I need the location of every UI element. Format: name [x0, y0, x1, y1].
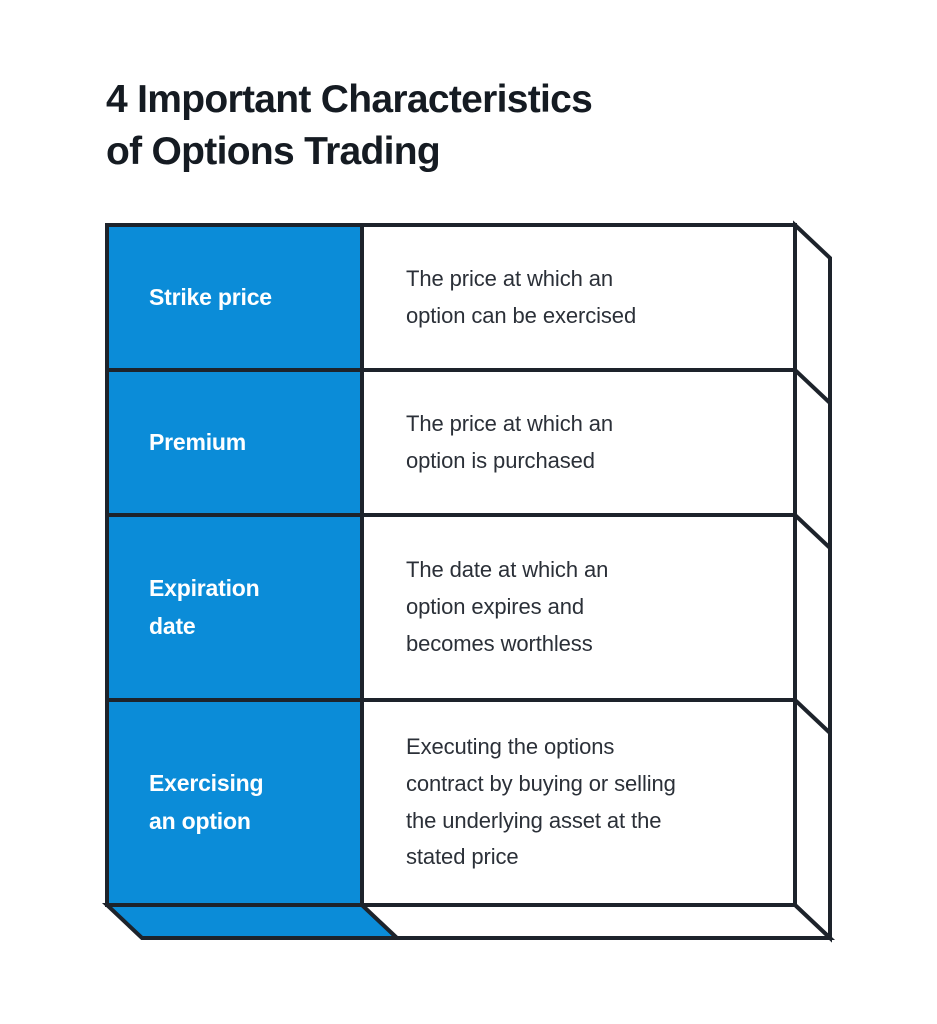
infographic-page: 4 Important Characteristics of Options T… [0, 0, 937, 1024]
table-bottom-face [107, 905, 830, 938]
bottom-depth-face-white [362, 905, 830, 938]
table-row: Expiration date The date at which an opt… [107, 515, 795, 700]
right-depth-divider-2 [795, 515, 830, 548]
page-title: 4 Important Characteristics of Options T… [106, 74, 806, 178]
row-description-expiration-date: The date at which an option expires and … [362, 515, 795, 700]
table-row: Premium The price at which an option is … [107, 370, 795, 515]
row-label-premium: Premium [107, 370, 362, 515]
right-depth-divider-3 [795, 700, 830, 733]
row-description-strike-price: The price at which an option can be exer… [362, 225, 795, 370]
row-label-expiration-date: Expiration date [107, 515, 362, 700]
table-row: Exercising an option Executing the optio… [107, 700, 795, 905]
right-depth-divider-1 [795, 370, 830, 403]
table-front-content: Strike price The price at which an optio… [107, 225, 795, 905]
right-depth-face [795, 225, 830, 938]
row-label-exercising-an-option: Exercising an option [107, 700, 362, 905]
table-right-side-face [795, 225, 830, 938]
row-description-premium: The price at which an option is purchase… [362, 370, 795, 515]
row-description-exercising-an-option: Executing the options contract by buying… [362, 700, 795, 905]
table-row: Strike price The price at which an optio… [107, 225, 795, 370]
bottom-depth-face-blue [107, 905, 397, 938]
row-label-strike-price: Strike price [107, 225, 362, 370]
